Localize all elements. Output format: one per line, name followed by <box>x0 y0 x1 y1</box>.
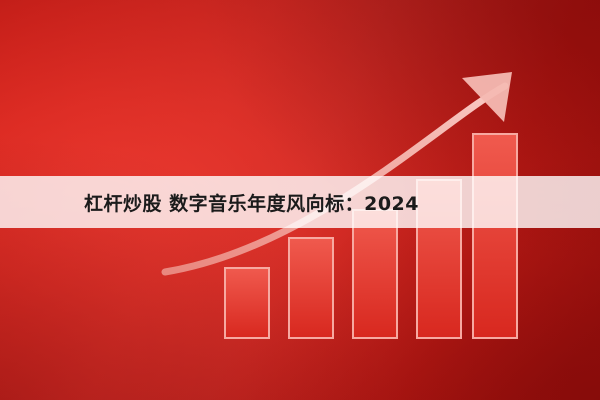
bar-1 <box>225 268 269 338</box>
page-title: 杠杆炒股 数字音乐年度风向标：2024 <box>84 189 419 216</box>
promo-banner: 杠杆炒股 数字音乐年度风向标：2024 <box>0 0 600 400</box>
bar-5 <box>473 134 517 338</box>
bar-2 <box>289 238 333 338</box>
title-band: 杠杆炒股 数字音乐年度风向标：2024 <box>0 176 600 228</box>
bar-3 <box>353 210 397 338</box>
